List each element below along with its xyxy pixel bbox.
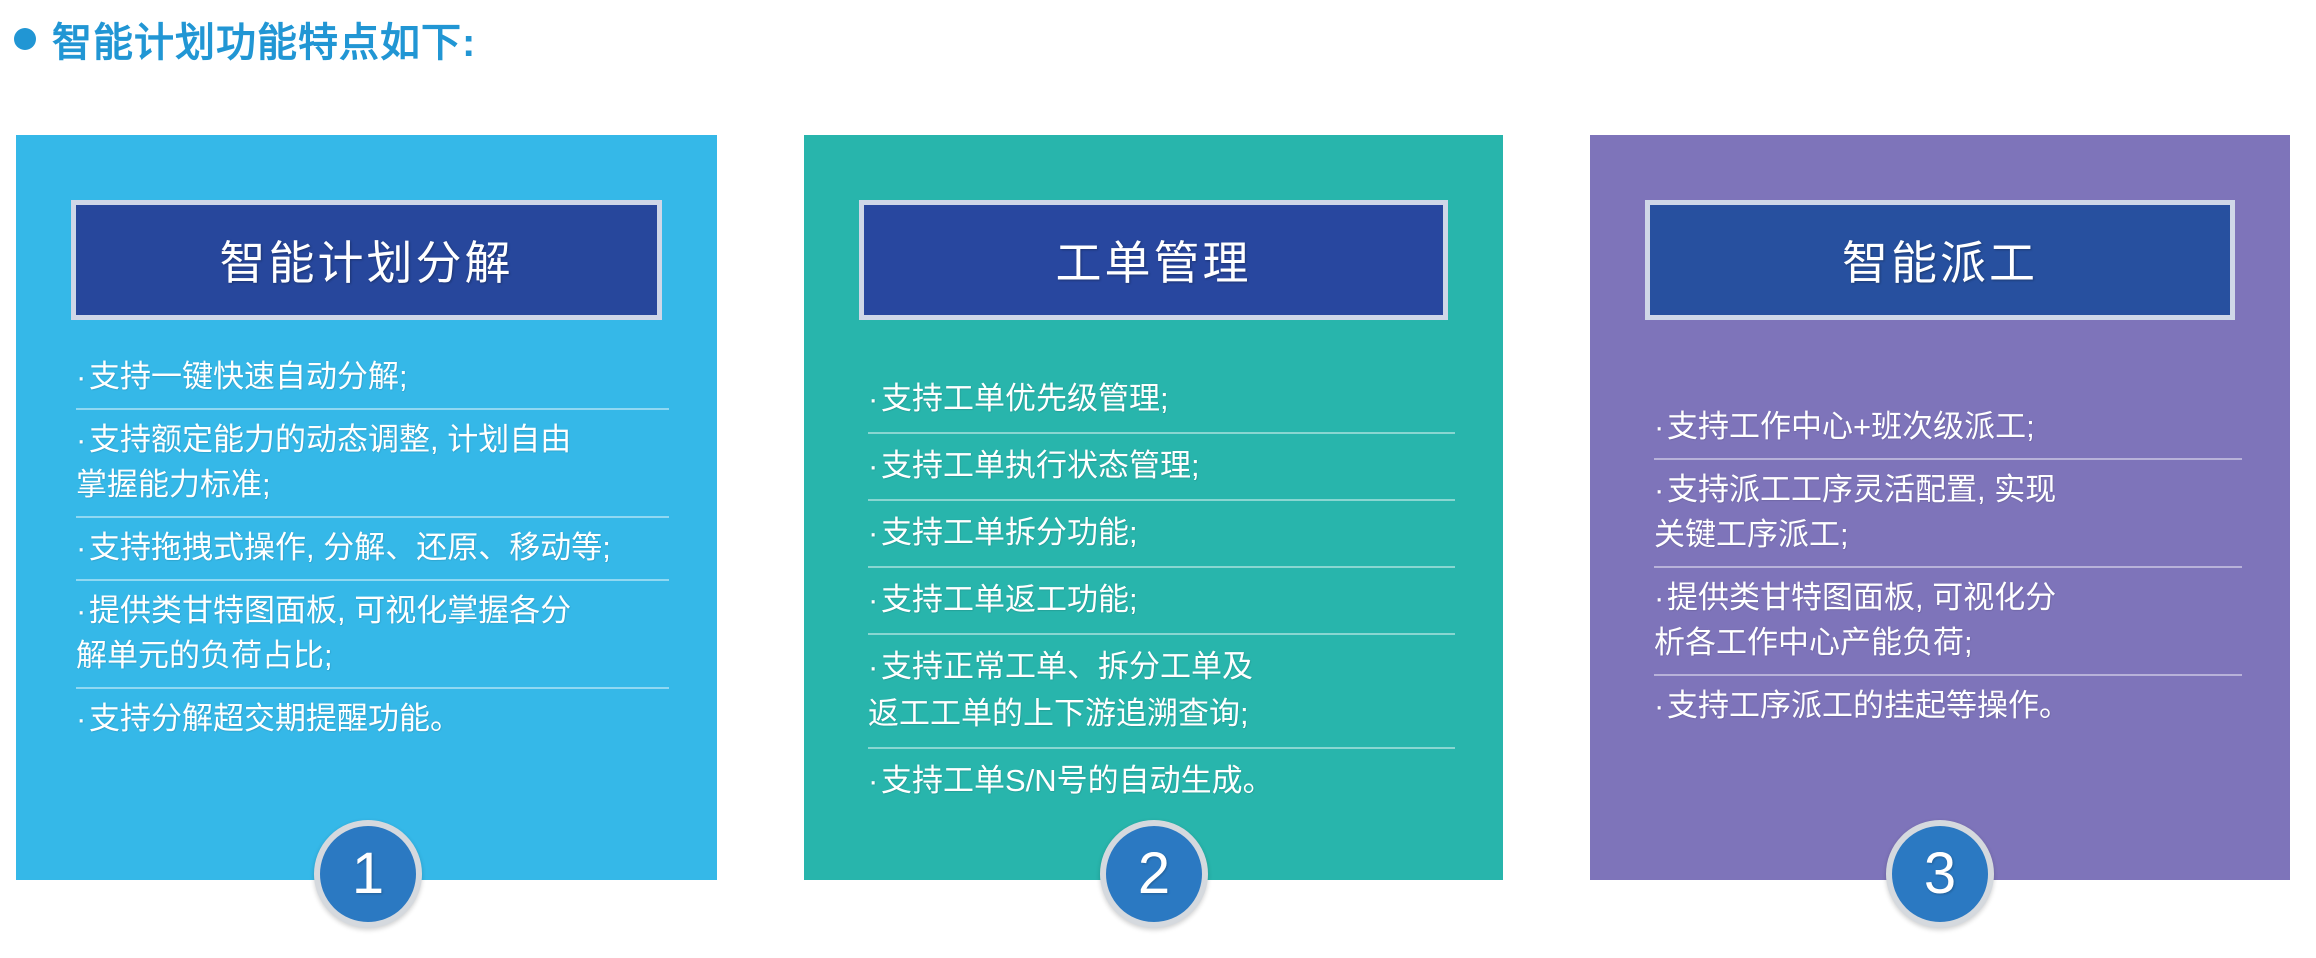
list-item: ·支持工单优先级管理;	[868, 367, 1455, 434]
list-item-text: 支持工单返工功能;	[881, 582, 1138, 617]
step-badge-3-number: 3	[1924, 845, 1956, 903]
list-bullet-icon: ·	[868, 442, 881, 489]
card-3-feature-list: ·支持工作中心+班次级派工; ·支持派工工序灵活配置, 实现 关键工序派工; ·…	[1654, 397, 2242, 737]
list-item: ·支持派工工序灵活配置, 实现 关键工序派工;	[1654, 460, 2242, 568]
list-bullet-icon: ·	[868, 375, 881, 422]
list-item-text: 支持正常工单、拆分工单及 返工工单的上下游追溯查询;	[868, 649, 1253, 731]
list-item-text: 支持工单优先级管理;	[881, 381, 1169, 416]
list-item: ·支持工单返工功能;	[868, 568, 1455, 635]
card-2-feature-list: ·支持工单优先级管理; ·支持工单执行状态管理; ·支持工单拆分功能; ·支持工…	[868, 367, 1455, 814]
list-item: ·提供类甘特图面板, 可视化分 析各工作中心产能负荷;	[1654, 568, 2242, 676]
list-item-text: 支持工单执行状态管理;	[881, 448, 1200, 483]
list-item-text: 支持派工工序灵活配置, 实现 关键工序派工;	[1654, 472, 2056, 552]
list-item: ·支持工单执行状态管理;	[868, 434, 1455, 501]
list-bullet-icon: ·	[76, 525, 89, 570]
card-2-title: 工单管理	[1056, 227, 1252, 293]
list-bullet-icon: ·	[1654, 467, 1667, 512]
list-bullet-icon: ·	[868, 757, 881, 804]
list-bullet-icon: ·	[1654, 404, 1667, 449]
feature-card-2[interactable]: 工单管理 ·支持工单优先级管理; ·支持工单执行状态管理; ·支持工单拆分功能;…	[804, 135, 1503, 880]
list-bullet-icon: ·	[868, 509, 881, 556]
list-item-text: 支持拖拽式操作, 分解、还原、移动等;	[89, 530, 611, 565]
list-item: ·支持工单拆分功能;	[868, 501, 1455, 568]
page-title: 智能计划功能特点如下:	[52, 10, 476, 68]
list-item-text: 支持工单拆分功能;	[881, 515, 1138, 550]
list-item: ·支持拖拽式操作, 分解、还原、移动等;	[76, 518, 669, 581]
list-item-text: 支持工序派工的挂起等操作。	[1667, 688, 2070, 723]
list-bullet-icon: ·	[1654, 575, 1667, 620]
card-1-feature-list: ·支持一键快速自动分解; ·支持额定能力的动态调整, 计划自由 掌握能力标准; …	[76, 347, 669, 750]
list-item-text: 提供类甘特图面板, 可视化分 析各工作中心产能负荷;	[1654, 580, 2056, 660]
list-item-text: 支持额定能力的动态调整, 计划自由 掌握能力标准;	[76, 422, 571, 502]
card-2-header: 工单管理	[859, 200, 1448, 320]
feature-card-3[interactable]: 智能派工 ·支持工作中心+班次级派工; ·支持派工工序灵活配置, 实现 关键工序…	[1590, 135, 2290, 880]
card-3-header: 智能派工	[1645, 200, 2235, 320]
list-bullet-icon: ·	[76, 417, 89, 462]
feature-card-1[interactable]: 智能计划分解 ·支持一键快速自动分解; ·支持额定能力的动态调整, 计划自由 掌…	[16, 135, 717, 880]
list-item: ·支持分解超交期提醒功能。	[76, 689, 669, 750]
list-item: ·支持额定能力的动态调整, 计划自由 掌握能力标准;	[76, 410, 669, 518]
list-bullet-icon: ·	[76, 588, 89, 633]
step-badge-3: 3	[1886, 820, 1994, 928]
card-3-title: 智能派工	[1842, 227, 2038, 293]
list-bullet-icon: ·	[868, 576, 881, 623]
card-1-title: 智能计划分解	[220, 227, 514, 293]
list-bullet-icon: ·	[868, 643, 881, 690]
step-badge-1-number: 1	[352, 845, 384, 903]
list-item: ·支持一键快速自动分解;	[76, 347, 669, 410]
list-bullet-icon: ·	[76, 354, 89, 399]
bullet-dot-icon	[14, 28, 36, 50]
list-item: ·支持工单S/N号的自动生成。	[868, 749, 1455, 814]
list-item: ·支持工序派工的挂起等操作。	[1654, 676, 2242, 737]
list-item-text: 支持分解超交期提醒功能。	[89, 701, 461, 736]
list-item: ·支持正常工单、拆分工单及 返工工单的上下游追溯查询;	[868, 635, 1455, 749]
step-badge-1: 1	[314, 820, 422, 928]
list-item-text: 支持工单S/N号的自动生成。	[881, 763, 1274, 798]
step-badge-2-number: 2	[1138, 845, 1170, 903]
list-item: ·提供类甘特图面板, 可视化掌握各分 解单元的负荷占比;	[76, 581, 669, 689]
feature-cards-row: 智能计划分解 ·支持一键快速自动分解; ·支持额定能力的动态调整, 计划自由 掌…	[0, 135, 2316, 880]
list-item-text: 支持一键快速自动分解;	[89, 359, 408, 394]
card-1-header: 智能计划分解	[71, 200, 662, 320]
list-item: ·支持工作中心+班次级派工;	[1654, 397, 2242, 460]
list-bullet-icon: ·	[76, 696, 89, 741]
list-item-text: 提供类甘特图面板, 可视化掌握各分 解单元的负荷占比;	[76, 593, 571, 673]
page-heading: 智能计划功能特点如下:	[14, 8, 476, 70]
step-badge-2: 2	[1100, 820, 1208, 928]
list-item-text: 支持工作中心+班次级派工;	[1667, 409, 2035, 444]
list-bullet-icon: ·	[1654, 683, 1667, 728]
